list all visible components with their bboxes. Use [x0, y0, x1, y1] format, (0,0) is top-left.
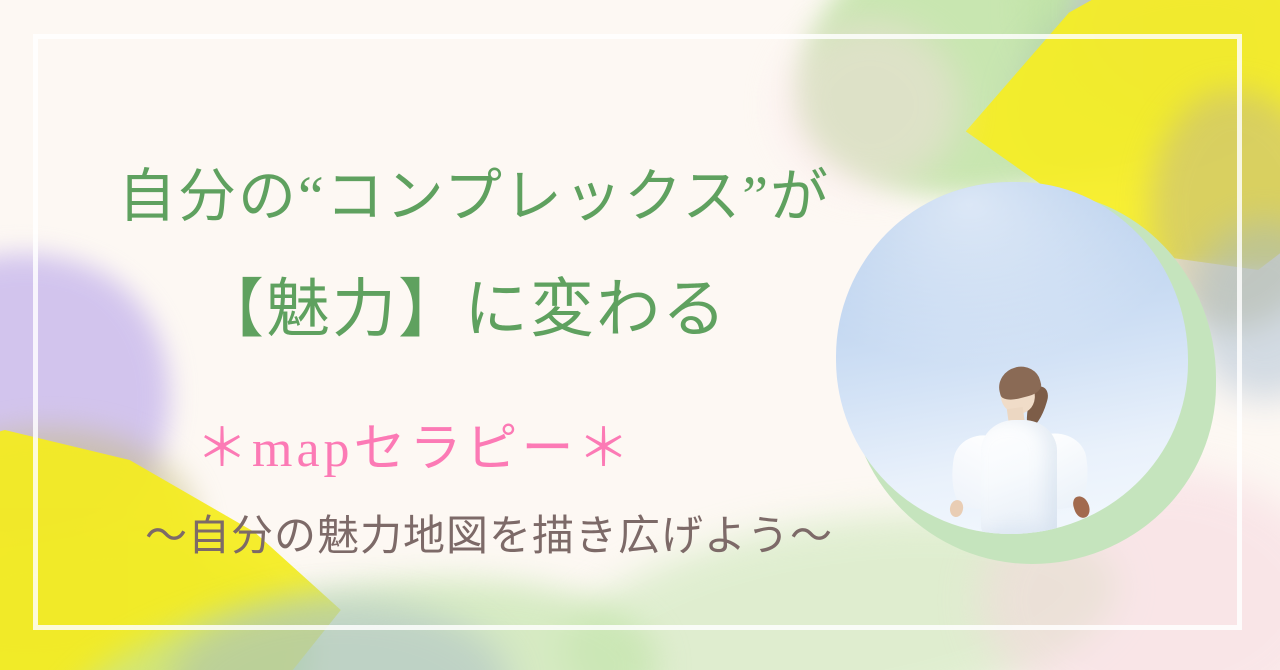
subtitle-line: 〜自分の魅力地図を描き広げよう〜 [145, 516, 833, 558]
headline-line-1: 自分の“コンプレックス”が [118, 168, 830, 226]
headline-line-2: 【魅力】に変わる [200, 278, 728, 342]
promo-banner: 自分の“コンプレックス”が 【魅力】に変わる ＊mapセラピー＊ 〜自分の魅力地… [0, 0, 1280, 670]
headline-block: 自分の“コンプレックス”が 【魅力】に変わる ＊mapセラピー＊ 〜自分の魅力地… [0, 0, 1280, 670]
service-name-line: ＊mapセラピー＊ [196, 424, 634, 476]
